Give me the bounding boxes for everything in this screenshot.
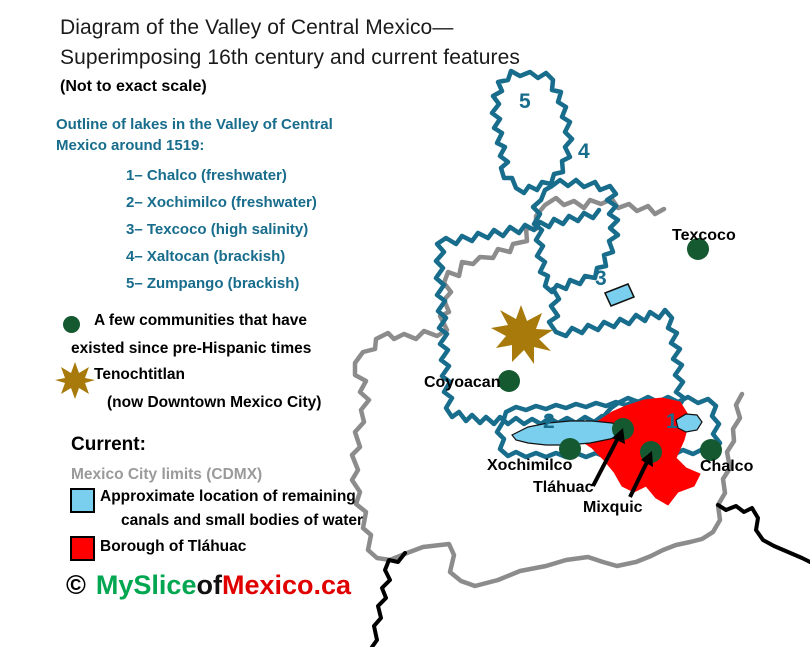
map-label-xochimilco: Xochimilco xyxy=(487,457,573,474)
lake-legend-item-texcoco: 3– Texcoco (high salinity) xyxy=(126,216,317,243)
current-legend-heading: Current: xyxy=(71,434,146,456)
tenochtitlan-star-map xyxy=(491,305,553,364)
map-lake-number-4: 4 xyxy=(578,140,590,163)
lake-legend-item-chalco: 1– Chalco (freshwater) xyxy=(126,162,317,189)
logo-text-of: of xyxy=(196,572,221,599)
canal-color-swatch xyxy=(70,488,95,513)
texcoco-remnant-water xyxy=(605,284,634,306)
lakes-legend-list: 1– Chalco (freshwater) 2– Xochimilco (fr… xyxy=(126,162,317,297)
cdmx-boundary-path xyxy=(352,198,742,586)
site-logo[interactable]: © MySlice of Mexico.ca xyxy=(66,572,351,599)
lake-legend-item-xochimilco: 2– Xochimilco (freshwater) xyxy=(126,189,317,216)
map-label-texcoco: Texcoco xyxy=(672,227,736,244)
map-dot-coyoacan xyxy=(498,370,520,392)
map-lake-number-5: 5 xyxy=(519,90,531,113)
lake-zumpango-outline xyxy=(492,71,572,193)
canal-legend-line-1: Approximate location of remaining xyxy=(100,488,356,506)
tenochtitlan-star-icon xyxy=(55,360,95,400)
tenochtitlan-legend-label: Tenochtitlan xyxy=(94,366,185,384)
map-lake-number-3: 3 xyxy=(595,267,607,290)
lake-legend-item-zumpango: 5– Zumpango (brackish) xyxy=(126,270,317,297)
diagram-canvas: 5 4 3 2 1 Texcoco Coyoacan Xochimilco Tl… xyxy=(0,0,810,647)
diagram-title-line-1: Diagram of the Valley of Central Mexico— xyxy=(60,16,453,40)
copyright-icon: © xyxy=(66,572,86,599)
cdmx-limits-legend-label: Mexico City limits (CDMX) xyxy=(71,466,262,484)
logo-text-myslice: MySlice xyxy=(96,572,197,599)
communities-legend-line-1: A few communities that have xyxy=(94,312,307,330)
lake-legend-item-xaltocan: 4– Xaltocan (brackish) xyxy=(126,243,317,270)
tenochtitlan-legend-sublabel: (now Downtown Mexico City) xyxy=(107,394,321,412)
borough-color-swatch xyxy=(70,536,95,561)
map-label-mixquic: Mixquic xyxy=(583,499,643,516)
canal-legend-line-2: canals and small bodies of water xyxy=(121,512,363,530)
map-lake-number-2: 2 xyxy=(543,410,555,433)
logo-text-mexico: Mexico.ca xyxy=(222,572,351,599)
state-boundary-path xyxy=(372,505,810,647)
lakes-legend-heading: Outline of lakes in the Valley of Centra… xyxy=(56,114,356,156)
lake-channel-path xyxy=(549,289,559,332)
community-dot-icon xyxy=(63,316,80,333)
diagram-title-line-2: Superimposing 16th century and current f… xyxy=(60,46,520,70)
scale-note: (Not to exact scale) xyxy=(60,78,207,96)
communities-legend-line-2: existed since pre-Hispanic times xyxy=(71,340,311,358)
map-label-chalco: Chalco xyxy=(700,458,754,475)
borough-legend-label: Borough of Tláhuac xyxy=(100,538,246,556)
map-label-tlahuac: Tláhuac xyxy=(533,479,594,496)
map-lake-number-1: 1 xyxy=(666,410,678,433)
map-label-coyoacan: Coyoacan xyxy=(424,374,500,391)
